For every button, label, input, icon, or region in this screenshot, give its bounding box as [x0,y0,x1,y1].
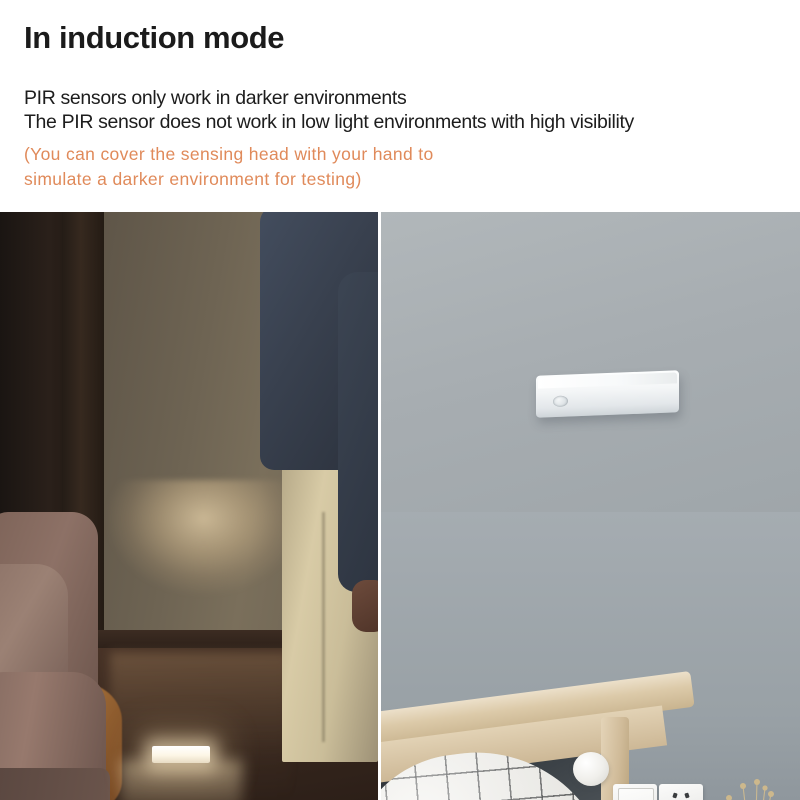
photo-panel-bright-room [381,212,800,800]
header-section: In induction mode PIR sensors only work … [0,0,800,212]
photo-panel-dark-room [0,212,378,800]
wall-socket-plate[interactable] [659,784,703,800]
trouser-crease [322,512,325,742]
wall-light-glow [96,480,311,655]
socket-pin-hole [672,793,677,799]
switch-rocker[interactable] [618,788,654,800]
subtitle-line-2: The PIR sensor does not work in low ligh… [24,110,784,134]
armchair-base [0,768,110,800]
socket-pin-hole [684,793,689,799]
person-sleeve [338,272,378,592]
wall-switch-plate[interactable] [613,784,657,800]
page-title: In induction mode [24,20,284,56]
pir-sensor-dome-icon [553,396,568,408]
photo-comparison-strip: PIR sensors only sense in darker environ… [0,212,800,800]
person-hand [352,580,378,632]
infographic-page: In induction mode PIR sensors only work … [0,0,800,800]
subtitle-line-1: PIR sensors only work in darker environm… [24,86,784,110]
note-block: (You can cover the sensing head with you… [24,142,764,192]
dried-flowers [699,772,800,800]
led-bar-lamp-lit [152,746,210,763]
lamp-top-face [538,372,677,388]
led-bar-lamp-unlit [536,370,679,417]
note-line-1: (You can cover the sensing head with you… [24,142,764,167]
subtitle-block: PIR sensors only work in darker environm… [24,86,784,134]
pillow-pompom [573,752,609,786]
note-line-2: simulate a darker environment for testin… [24,167,764,192]
lamp-light-pool [120,760,242,800]
